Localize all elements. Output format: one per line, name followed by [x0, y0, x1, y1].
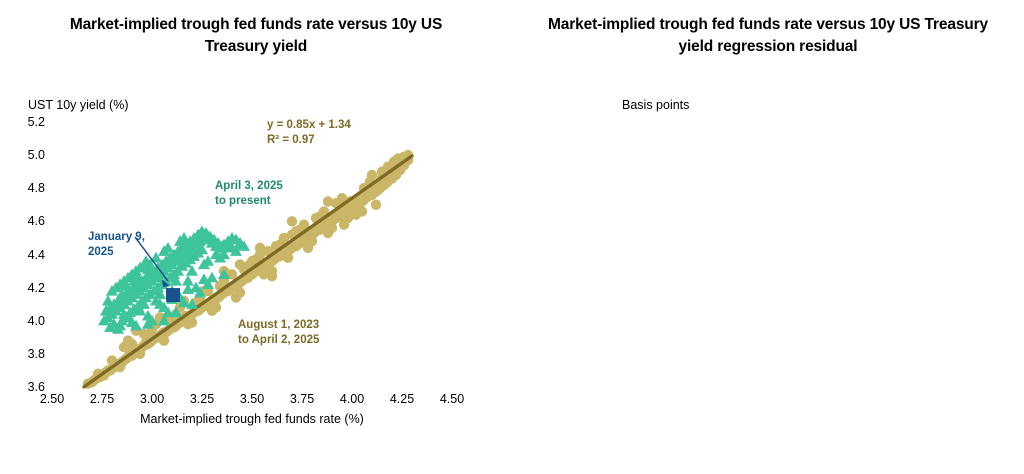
left-x-tick: 4.25 — [390, 387, 414, 406]
left-x-tick: 3.00 — [140, 387, 164, 406]
scatter-point — [255, 243, 265, 253]
scatter-point — [159, 335, 169, 345]
left-x-tick: 3.25 — [190, 387, 214, 406]
scatter-point — [187, 317, 197, 327]
scatter-chart-panel: Market-implied trough fed funds rate ver… — [0, 0, 512, 474]
scatter-point — [102, 295, 114, 306]
scatter-point — [371, 200, 381, 210]
scatter-point — [367, 170, 377, 180]
regression-equation-annotation: y = 0.85x + 1.34 R² = 0.97 — [267, 118, 351, 148]
left-x-tick: 3.75 — [290, 387, 314, 406]
scatter-point — [323, 196, 333, 206]
left-y-tick: 5.0 — [28, 148, 52, 162]
scatter-point — [287, 216, 297, 226]
left-x-tick: 2.75 — [90, 387, 114, 406]
scatter-plot-area: y = 0.85x + 1.34 R² = 0.97 April 3, 2025… — [52, 122, 452, 387]
left-y-tick: 3.8 — [28, 347, 52, 361]
left-y-tick: 4.4 — [28, 248, 52, 262]
scatter-point — [267, 271, 277, 281]
blue-date-annotation: January 9, 2025 — [88, 230, 145, 260]
teal-period-annotation: April 3, 2025 to present — [215, 179, 283, 209]
scatter-point — [283, 253, 293, 263]
left-y-tick: 4.0 — [28, 314, 52, 328]
left-y-tick: 5.2 — [28, 115, 52, 129]
left-x-tick: 4.00 — [340, 387, 364, 406]
charts-page: Market-implied trough fed funds rate ver… — [0, 0, 1024, 474]
scatter-point — [235, 259, 245, 269]
left-y-tick: 4.6 — [28, 214, 52, 228]
scatter-point — [303, 243, 313, 253]
scatter-point — [231, 292, 241, 302]
scatter-point — [327, 223, 337, 233]
left-y-axis-unit: UST 10y yield (%) — [28, 98, 129, 112]
scatter-point — [211, 302, 221, 312]
left-x-tick: 2.50 — [40, 387, 64, 406]
left-x-tick: 3.50 — [240, 387, 264, 406]
left-y-tick: 4.8 — [28, 181, 52, 195]
scatter-point — [123, 335, 133, 345]
right-y-axis-unit: Basis points — [622, 98, 689, 112]
left-y-tick: 4.2 — [28, 281, 52, 295]
january-9-2025-marker — [166, 288, 180, 302]
residual-chart-panel: Market-implied trough fed funds rate ver… — [512, 0, 1024, 474]
scatter-point — [351, 210, 361, 220]
left-x-tick: 4.50 — [440, 387, 464, 406]
left-chart-title: Market-implied trough fed funds rate ver… — [0, 14, 512, 59]
gold-period-annotation: August 1, 2023 to April 2, 2025 — [238, 318, 319, 348]
right-chart-title: Market-implied trough fed funds rate ver… — [512, 14, 1024, 59]
left-x-axis-label: Market-implied trough fed funds rate (%) — [52, 412, 452, 426]
